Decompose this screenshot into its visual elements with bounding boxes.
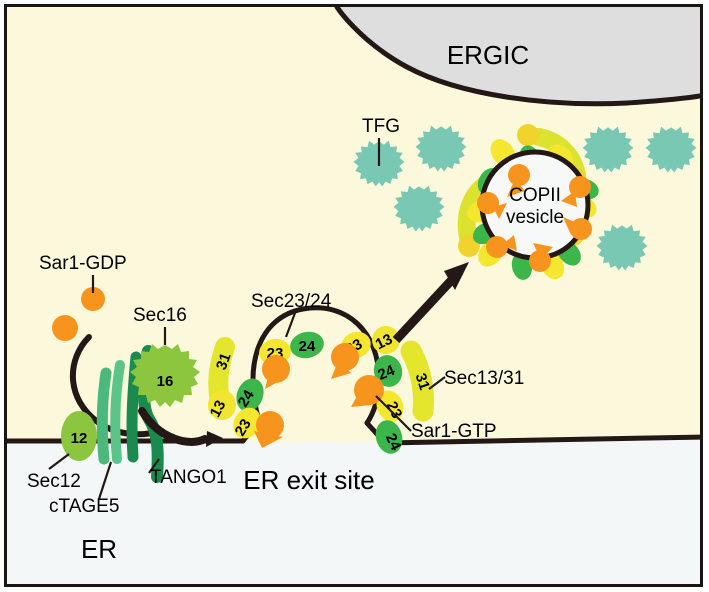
diagram-canvas: Sar1-GDP 12 Sec12 cTAGE5	[7, 7, 700, 584]
vesicle-label-line2: vesicle	[506, 207, 564, 228]
label-tfg: TFG	[362, 116, 400, 137]
label-er: ER	[81, 534, 117, 564]
label-tango1: TANGO1	[150, 467, 227, 488]
label-sec16: Sec16	[133, 305, 187, 326]
ctage5-rod-1	[102, 373, 106, 459]
sar1-circle-top	[331, 343, 359, 371]
vesicle-sar1-3	[477, 192, 499, 214]
vesicle-label-line1: COPII	[509, 185, 561, 206]
label-sec23-24: Sec23/24	[251, 291, 332, 312]
vesicle-sar1-6	[529, 250, 551, 272]
vesicle-sar1-4	[570, 218, 592, 240]
label-sar1-gtp: Sar1-GTP	[411, 421, 497, 442]
label-sec13-31: Sec13/31	[444, 368, 524, 389]
vesicle-sar1-5	[486, 236, 508, 258]
vesicle-sar1-2	[569, 176, 591, 198]
sar1-gdp-circle-2	[52, 315, 78, 341]
vesicle-sec13-knob-1	[517, 124, 539, 146]
figure-frame: Sar1-GDP 12 Sec12 cTAGE5	[4, 4, 703, 587]
label-ergic: ERGIC	[447, 40, 529, 70]
sar1-circle-left-upper	[262, 355, 290, 383]
vesicle-sar1-1	[508, 164, 530, 186]
sec16-number: 16	[157, 373, 174, 390]
label-er-exit-site: ER exit site	[243, 465, 375, 495]
sec24-number-left-upper: 24	[299, 338, 316, 355]
sec13-31-label-group: Sec13/31	[429, 368, 524, 389]
label-sec12: Sec12	[27, 471, 81, 492]
ctage5-rod-2	[115, 365, 120, 459]
sec12-number: 12	[71, 430, 88, 447]
label-ctage5: cTAGE5	[49, 496, 119, 517]
figure-root: Sar1-GDP 12 Sec12 cTAGE5	[0, 0, 709, 592]
sar1-circle-left-lower	[256, 411, 284, 439]
label-sar1-gdp: Sar1-GDP	[39, 253, 127, 274]
